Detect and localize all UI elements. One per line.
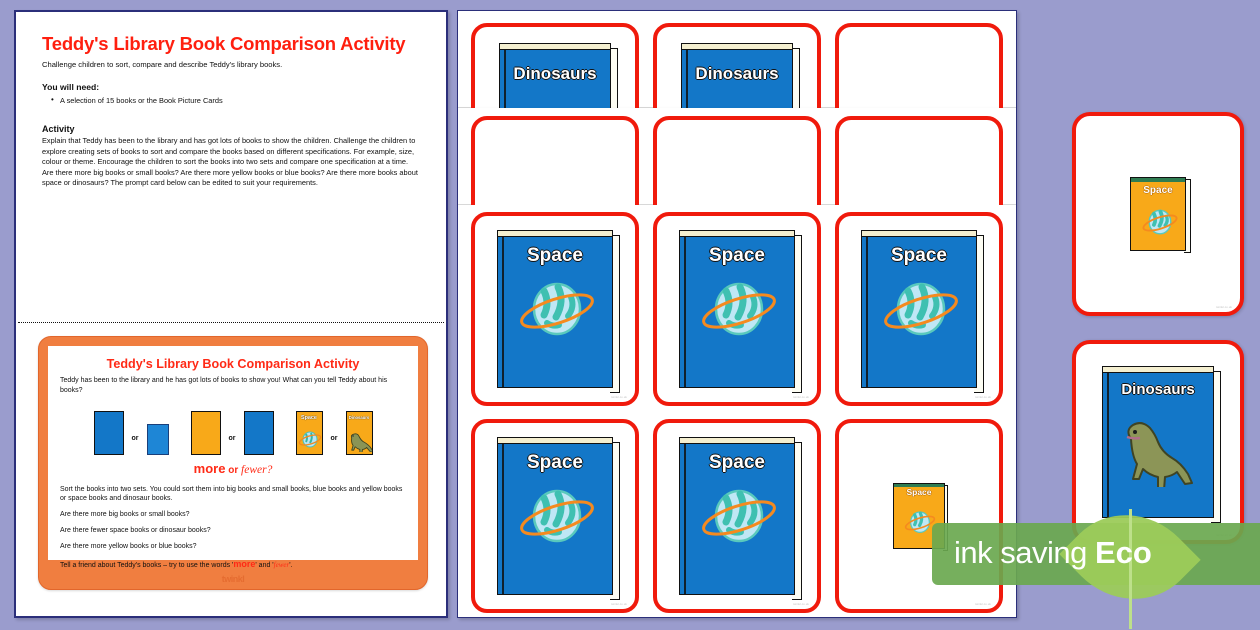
- final-prefix: Tell a friend about Teddy's books – try …: [60, 562, 233, 569]
- book-title-label: Space: [894, 487, 944, 497]
- book-space-large: Space: [861, 230, 977, 388]
- credit-text: twinkl.co.uk: [611, 603, 627, 606]
- book-cover: [244, 411, 274, 455]
- book-cover: Space: [497, 230, 613, 388]
- credit-text: twinkl.co.uk: [793, 396, 809, 399]
- question-3: Are there more yellow books or blue book…: [60, 542, 406, 552]
- book-top-edge: [680, 231, 794, 237]
- picture-card[interactable]: Space twinkl.co.uk: [653, 212, 821, 406]
- connector-or-2: or: [229, 435, 236, 442]
- final-line: Tell a friend about Teddy's books – try …: [60, 558, 406, 571]
- sorting-instructions: Sort the books into two sets. You could …: [60, 485, 406, 505]
- activity-text: Explain that Teddy has been to the libra…: [42, 136, 420, 189]
- book-top-edge: [682, 44, 792, 50]
- book-cover: Dinosaurs: [346, 411, 373, 455]
- book-icon-space-yellow: Space: [296, 411, 323, 455]
- book-cover: Dinosaurs: [1102, 366, 1214, 518]
- fewer-word: fewer?: [241, 464, 272, 476]
- planet-icon: [514, 279, 600, 343]
- left-document-page: Teddy's Library Book Comparison Activity…: [14, 10, 448, 618]
- prompt-card-title: Teddy's Library Book Comparison Activity: [58, 357, 408, 371]
- book-top-edge: [1131, 178, 1185, 182]
- planet-icon: [297, 429, 323, 451]
- picture-card-space-yellow[interactable]: Space twinkl.co.uk: [1072, 112, 1244, 316]
- question-1: Are there more big books or small books?: [60, 510, 406, 520]
- book-cover: Space: [1130, 177, 1186, 251]
- credit-text: twinkl.co.uk: [975, 603, 991, 606]
- book-top-edge: [498, 231, 612, 237]
- eco-watermark: ink saving Eco: [932, 523, 1260, 585]
- planet-icon: [878, 279, 964, 343]
- page-title: Teddy's Library Book Comparison Activity: [42, 34, 446, 53]
- picture-card[interactable]: Space twinkl.co.uk: [471, 212, 639, 406]
- book-title-label: Dinosaurs: [682, 64, 792, 84]
- book-title-label: Space: [680, 452, 794, 474]
- planet-icon: [696, 279, 782, 343]
- book-space-large: Space: [679, 230, 795, 388]
- or-word: or: [225, 465, 241, 476]
- book-space-large: Space: [497, 230, 613, 388]
- book-space-large: Space: [497, 437, 613, 595]
- picture-card[interactable]: Space twinkl.co.uk: [653, 419, 821, 613]
- book-cover: [147, 424, 169, 455]
- more-or-fewer-line: more or fewer?: [58, 460, 408, 478]
- screenshot-stage: Teddy's Library Book Comparison Activity…: [0, 0, 1260, 630]
- cards-row: Space twinkl.co.uk: [458, 205, 1016, 406]
- book-title-label: Space: [1131, 185, 1185, 196]
- prompt-card: Teddy's Library Book Comparison Activity…: [38, 336, 428, 590]
- book-icon-blue-big: [94, 411, 124, 455]
- book-cover: Space: [497, 437, 613, 595]
- book-title-label: Dinosaurs: [1103, 381, 1213, 398]
- card-sheet-row-1: Dinosaurs Dinosaurs: [458, 11, 1016, 108]
- book-cover: Space: [679, 230, 795, 388]
- comparison-books-row: or or: [58, 403, 408, 455]
- book-title-label: Space: [680, 245, 794, 267]
- book-cover: [94, 411, 124, 455]
- planet-icon: [1139, 208, 1181, 238]
- book-cover: Space: [296, 411, 323, 455]
- book-top-edge: [862, 231, 976, 237]
- connector-or-1: or: [132, 435, 139, 442]
- book-icon-dino-yellow: Dinosaurs: [346, 411, 373, 455]
- prompt-card-intro: Teddy has been to the library and he has…: [60, 376, 406, 396]
- book-title-label: Space: [862, 245, 976, 267]
- book-space-large: Space: [679, 437, 795, 595]
- book-cover: Space: [679, 437, 795, 595]
- book-icon-blue-small: [147, 424, 169, 455]
- picture-card[interactable]: Space twinkl.co.uk: [471, 419, 639, 613]
- picture-card-dinosaurs-blue[interactable]: Dinosaurs twinkl.co.uk: [1072, 340, 1244, 544]
- connector-or-3: or: [331, 435, 338, 442]
- credit-text: twinkl.co.uk: [793, 603, 809, 606]
- you-will-need-list: A selection of 15 books or the Book Pict…: [60, 96, 446, 105]
- final-suffix: '.: [289, 562, 292, 569]
- cut-line-divider: [18, 322, 444, 323]
- list-item: A selection of 15 books or the Book Pict…: [60, 96, 446, 105]
- card-sheet-row-4: Space twinkl.co.uk: [458, 412, 1016, 617]
- question-2: Are there fewer space books or dinosaur …: [60, 526, 406, 536]
- book-dinosaurs-large: Dinosaurs: [1102, 366, 1214, 518]
- book-top-edge: [680, 438, 794, 444]
- book-top-edge: [500, 44, 610, 50]
- ink-saving-label: ink saving: [954, 535, 1087, 571]
- final-mid: ' and ': [255, 562, 273, 569]
- you-will-need-heading: You will need:: [42, 82, 446, 92]
- page-subtitle: Challenge children to sort, compare and …: [42, 60, 446, 69]
- picture-card[interactable]: Space twinkl.co.uk: [835, 212, 1003, 406]
- activity-heading: Activity: [42, 124, 446, 134]
- final-more-word: more: [233, 559, 255, 569]
- credit-text: twinkl.co.uk: [1216, 306, 1232, 309]
- twinkl-logo: twinkl: [39, 574, 427, 584]
- credit-text: twinkl.co.uk: [975, 396, 991, 399]
- final-fewer-word: fewer: [274, 561, 290, 569]
- book-top-edge: [498, 438, 612, 444]
- eco-label: Eco: [1095, 535, 1152, 571]
- prompt-card-inner: Teddy's Library Book Comparison Activity…: [48, 346, 418, 560]
- book-cover: Space: [861, 230, 977, 388]
- book-title-label: Space: [297, 415, 322, 421]
- card-sheet-row-3: Space twinkl.co.uk: [458, 205, 1016, 410]
- book-title-label: Space: [498, 245, 612, 267]
- credit-text: twinkl.co.uk: [611, 396, 627, 399]
- book-title-label: Dinosaurs: [347, 415, 372, 420]
- book-cover: [191, 411, 221, 455]
- book-space-medium: Space: [1130, 177, 1186, 251]
- planet-icon: [514, 486, 600, 550]
- card-sheet-row-2: Space Space: [458, 108, 1016, 205]
- planet-icon: [696, 486, 782, 550]
- book-icon-yellow-big: [191, 411, 221, 455]
- book-icon-blue-big-2: [244, 411, 274, 455]
- book-title-label: Dinosaurs: [500, 64, 610, 84]
- book-top-edge: [1103, 367, 1213, 373]
- book-title-label: Space: [498, 452, 612, 474]
- dinosaur-icon: [1113, 415, 1209, 487]
- more-word: more: [194, 461, 226, 476]
- dinosaur-icon: [347, 428, 373, 452]
